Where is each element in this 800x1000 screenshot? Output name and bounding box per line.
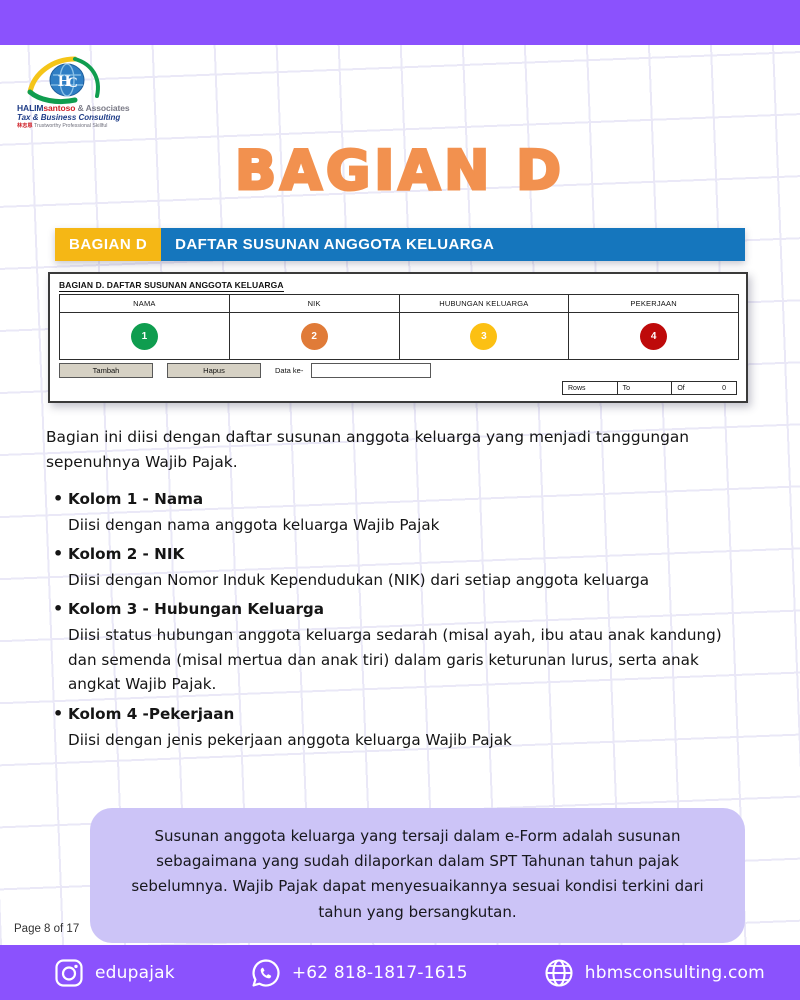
kolom-1-heading: Kolom 1 - Nama [46, 487, 754, 512]
hapus-button[interactable]: Hapus [167, 363, 261, 378]
list-item: Kolom 1 - Nama Diisi dengan nama anggota… [46, 487, 754, 537]
whatsapp-icon [251, 958, 281, 988]
marker-badge-4: 4 [640, 323, 667, 350]
page-number: Page 8 of 17 [14, 923, 79, 935]
form-col-header-pekerjaan: PEKERJAAN [569, 295, 739, 313]
whatsapp-number: +62 818-1817-1615 [292, 963, 468, 983]
instagram-icon [54, 958, 84, 988]
website-url: hbmsconsulting.com [585, 963, 765, 983]
banner-tag: BAGIAN D [55, 228, 161, 261]
instagram-handle: edupajak [95, 963, 175, 983]
of-value: 0 [722, 385, 726, 392]
kolom-4-description: Diisi dengan jenis pekerjaan anggota kel… [46, 728, 754, 753]
kolom-2-description: Diisi dengan Nomor Induk Kependudukan (N… [46, 568, 754, 593]
form-cell-pekerjaan[interactable]: 4 [569, 313, 739, 360]
footer-whatsapp[interactable]: +62 818-1817-1615 [251, 958, 468, 988]
form-controls: Tambah Hapus Data ke- [59, 360, 739, 380]
logo-mark-icon: H C [17, 56, 129, 106]
form-col-header-nik: NIK [229, 295, 399, 313]
form-cell-nama[interactable]: 1 [60, 313, 230, 360]
kolom-list: Kolom 1 - Nama Diisi dengan nama anggota… [46, 487, 754, 752]
rows-pager: Rows To Of0 [562, 381, 737, 395]
banner-title: DAFTAR SUSUNAN ANGGOTA KELUARGA [161, 228, 745, 261]
form-caption: BAGIAN D. DAFTAR SUSUNAN ANGGOTA KELUARG… [59, 280, 284, 292]
logo-line-2: Tax & Business Consulting [17, 114, 129, 122]
form-cell-hubungan[interactable]: 3 [399, 313, 569, 360]
form-table-header-row: NAMA NIK HUBUNGAN KELUARGA PEKERJAAN [60, 295, 739, 313]
eform-screenshot: BAGIAN D. DAFTAR SUSUNAN ANGGOTA KELUARG… [48, 272, 748, 403]
globe-icon [544, 958, 574, 988]
kolom-3-description: Diisi status hubungan anggota keluarga s… [46, 623, 754, 697]
svg-text:C: C [67, 75, 78, 91]
logo-line-1: HALIMsantoso & Associates [17, 104, 129, 113]
form-table: NAMA NIK HUBUNGAN KELUARGA PEKERJAAN 1 2… [59, 294, 739, 360]
to-label[interactable]: To [618, 382, 673, 394]
footer-website[interactable]: hbmsconsulting.com [544, 958, 765, 988]
list-item: Kolom 3 - Hubungan Keluarga Diisi status… [46, 597, 754, 697]
list-item: Kolom 2 - NIK Diisi dengan Nomor Induk K… [46, 542, 754, 592]
body-copy: Bagian ini diisi dengan daftar susunan a… [46, 425, 754, 757]
data-ke-input[interactable] [311, 363, 431, 378]
kolom-3-heading: Kolom 3 - Hubungan Keluarga [46, 597, 754, 622]
top-purple-bar [0, 0, 800, 45]
marker-badge-2: 2 [301, 323, 328, 350]
logo-wordmark: HALIMsantoso & Associates Tax & Business… [17, 104, 129, 130]
callout-note: Susunan anggota keluarga yang tersaji da… [90, 808, 745, 943]
page-title: BAGIAN D [0, 139, 800, 202]
footer-bar: edupajak +62 818-1817-1615 hbmsconsultin… [0, 945, 800, 1000]
marker-badge-1: 1 [131, 323, 158, 350]
kolom-2-heading: Kolom 2 - NIK [46, 542, 754, 567]
form-table-row: 1 2 3 4 [60, 313, 739, 360]
footer-instagram[interactable]: edupajak [54, 958, 175, 988]
form-col-header-nama: NAMA [60, 295, 230, 313]
intro-paragraph: Bagian ini diisi dengan daftar susunan a… [46, 425, 754, 475]
of-label: Of [677, 385, 684, 392]
logo-line-3: 林志恩 Trustworthy Professional Skillful [17, 124, 129, 129]
form-col-header-hubungan: HUBUNGAN KELUARGA [399, 295, 569, 313]
company-logo: H C HALIMsantoso & Associates Tax & Busi… [17, 56, 129, 132]
page-root: H C HALIMsantoso & Associates Tax & Busi… [0, 0, 800, 1000]
kolom-1-description: Diisi dengan nama anggota keluarga Wajib… [46, 513, 754, 538]
form-cell-nik[interactable]: 2 [229, 313, 399, 360]
of-cell[interactable]: Of0 [672, 382, 736, 394]
data-ke-label: Data ke- [275, 366, 303, 375]
section-banner: BAGIAN D DAFTAR SUSUNAN ANGGOTA KELUARGA [55, 228, 745, 261]
rows-label[interactable]: Rows [563, 382, 618, 394]
list-item: Kolom 4 -Pekerjaan Diisi dengan jenis pe… [46, 702, 754, 752]
tambah-button[interactable]: Tambah [59, 363, 153, 378]
kolom-4-heading: Kolom 4 -Pekerjaan [46, 702, 754, 727]
marker-badge-3: 3 [470, 323, 497, 350]
